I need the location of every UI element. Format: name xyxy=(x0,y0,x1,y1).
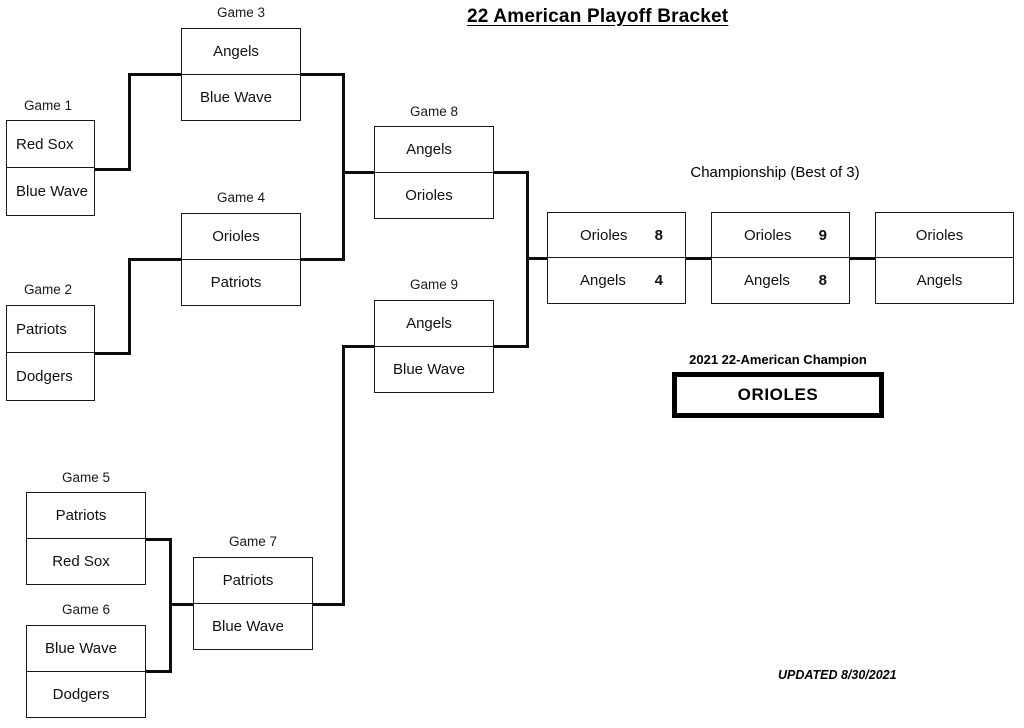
team-name: Patriots xyxy=(203,572,293,589)
match-slot-bottom[interactable]: Blue Wave xyxy=(7,168,94,215)
match-slot-top[interactable]: Angels xyxy=(182,29,300,75)
match-slot-top[interactable]: Red Sox xyxy=(7,121,94,168)
match-slot-bottom[interactable]: Angels 8 xyxy=(712,258,849,303)
connector-game3-game4-spine xyxy=(342,73,345,261)
connector-game7-out xyxy=(313,603,345,606)
connector-into-game4 xyxy=(128,258,182,261)
connector-championship-game2-to-game3 xyxy=(848,257,876,260)
game-label-3: Game 3 xyxy=(181,5,301,20)
match-slot-bottom[interactable]: Blue Wave xyxy=(375,347,493,393)
match-box-game-1[interactable]: Red Sox Blue Wave xyxy=(6,120,95,216)
connector-game4-out xyxy=(300,258,345,261)
connector-championship-game1-to-game2 xyxy=(684,257,712,260)
team-name: Orioles xyxy=(384,187,474,204)
game-label-9: Game 9 xyxy=(374,277,494,292)
team-name: Orioles xyxy=(191,228,281,245)
connector-game2-out xyxy=(95,352,131,355)
champion-box: ORIOLES xyxy=(672,372,884,418)
team-name: Dodgers xyxy=(36,686,126,703)
connector-game7-riser xyxy=(342,345,345,606)
match-slot-bottom[interactable]: Dodgers xyxy=(27,672,145,718)
team-score: 8 xyxy=(645,227,663,244)
team-name: Orioles xyxy=(744,227,809,244)
connector-game9-out xyxy=(492,345,529,348)
connector-game3-out xyxy=(300,73,345,76)
updated-stamp: UPDATED 8/30/2021 xyxy=(778,668,897,682)
game-label-7: Game 7 xyxy=(193,534,313,549)
connector-game2-riser xyxy=(128,258,131,355)
match-slot-bottom[interactable]: Blue Wave xyxy=(182,75,300,121)
game-label-8: Game 8 xyxy=(374,104,494,119)
team-name: Orioles xyxy=(580,227,645,244)
match-box-championship-game-2[interactable]: Orioles 9 Angels 8 xyxy=(711,212,850,304)
connector-game1-riser xyxy=(128,73,131,171)
team-name: Dodgers xyxy=(16,368,75,385)
match-slot-bottom[interactable]: Patriots xyxy=(182,260,300,306)
team-score: 8 xyxy=(809,272,827,289)
team-name: Angels xyxy=(885,272,994,289)
connector-game8-out xyxy=(492,171,529,174)
match-slot-bottom[interactable]: Angels xyxy=(876,258,1013,303)
team-name: Angels xyxy=(384,315,474,332)
match-box-game-8[interactable]: Angels Orioles xyxy=(374,126,494,219)
match-box-game-2[interactable]: Patriots Dodgers xyxy=(6,305,95,401)
game-label-6: Game 6 xyxy=(26,602,146,617)
team-name: Blue Wave xyxy=(203,618,293,635)
team-name: Red Sox xyxy=(36,553,126,570)
match-box-game-5[interactable]: Patriots Red Sox xyxy=(26,492,146,585)
match-slot-top[interactable]: Patriots xyxy=(7,306,94,353)
match-slot-top[interactable]: Orioles 8 xyxy=(548,213,685,258)
match-slot-top[interactable]: Orioles 9 xyxy=(712,213,849,258)
match-slot-bottom[interactable]: Angels 4 xyxy=(548,258,685,303)
match-slot-bottom[interactable]: Orioles xyxy=(375,173,493,219)
match-slot-bottom[interactable]: Blue Wave xyxy=(194,604,312,650)
connector-into-game8 xyxy=(342,171,377,174)
connector-game1-out xyxy=(95,168,131,171)
team-name: Blue Wave xyxy=(36,640,126,657)
match-box-championship-game-3[interactable]: Orioles Angels xyxy=(875,212,1014,304)
team-name: Angels xyxy=(191,43,281,60)
match-slot-top[interactable]: Orioles xyxy=(876,213,1013,258)
championship-header: Championship (Best of 3) xyxy=(620,164,930,181)
team-name: Patriots xyxy=(36,507,126,524)
page-title: 22 American Playoff Bracket xyxy=(467,6,728,28)
team-name: Blue Wave xyxy=(384,361,474,378)
match-box-game-6[interactable]: Blue Wave Dodgers xyxy=(26,625,146,718)
match-slot-top[interactable]: Patriots xyxy=(27,493,145,539)
match-slot-top[interactable]: Patriots xyxy=(194,558,312,604)
team-name: Angels xyxy=(744,272,809,289)
match-slot-bottom[interactable]: Red Sox xyxy=(27,539,145,585)
match-slot-top[interactable]: Angels xyxy=(375,301,493,347)
team-score: 4 xyxy=(645,272,663,289)
game-label-1: Game 1 xyxy=(0,98,96,113)
team-name: Angels xyxy=(580,272,645,289)
match-slot-top[interactable]: Blue Wave xyxy=(27,626,145,672)
game-label-2: Game 2 xyxy=(0,282,96,297)
connector-into-game7 xyxy=(169,603,195,606)
bracket-canvas: 22 American Playoff Bracket Game 1 Red S… xyxy=(0,0,1024,728)
match-box-championship-game-1[interactable]: Orioles 8 Angels 4 xyxy=(547,212,686,304)
team-name: Patriots xyxy=(16,321,75,338)
connector-into-game3 xyxy=(128,73,182,76)
match-slot-bottom[interactable]: Dodgers xyxy=(7,353,94,400)
team-name: Blue Wave xyxy=(191,89,281,106)
team-name: Red Sox xyxy=(16,136,75,153)
match-slot-top[interactable]: Angels xyxy=(375,127,493,173)
connector-into-game9 xyxy=(342,345,377,348)
team-name: Orioles xyxy=(885,227,994,244)
game-label-4: Game 4 xyxy=(181,190,301,205)
team-name: Angels xyxy=(384,141,474,158)
team-score: 9 xyxy=(809,227,827,244)
match-box-game-4[interactable]: Orioles Patriots xyxy=(181,213,301,306)
match-box-game-7[interactable]: Patriots Blue Wave xyxy=(193,557,313,650)
game-label-5: Game 5 xyxy=(26,470,146,485)
team-name: Patriots xyxy=(191,274,281,291)
team-name: Blue Wave xyxy=(16,183,88,200)
champion-label: 2021 22-American Champion xyxy=(660,352,896,367)
champion-team-name: ORIOLES xyxy=(738,385,819,405)
match-box-game-3[interactable]: Angels Blue Wave xyxy=(181,28,301,121)
match-box-game-9[interactable]: Angels Blue Wave xyxy=(374,300,494,393)
match-slot-top[interactable]: Orioles xyxy=(182,214,300,260)
